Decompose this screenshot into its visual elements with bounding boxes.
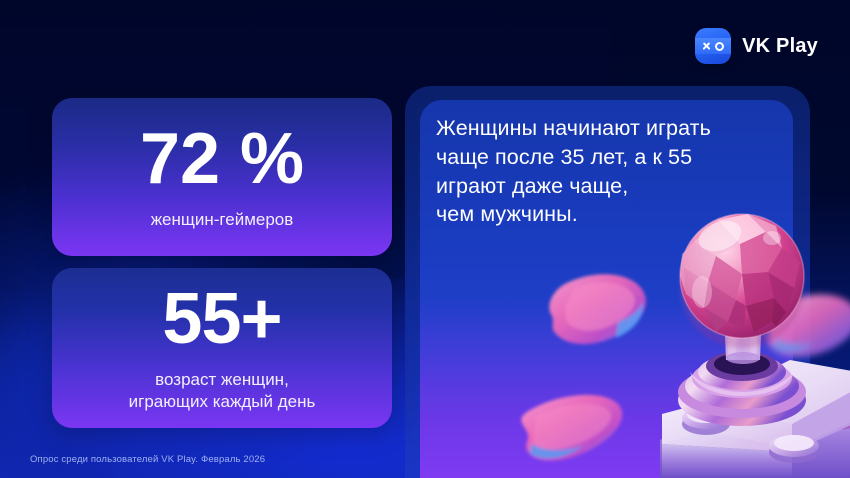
stat-label-line-1: возраст женщин, bbox=[155, 370, 289, 389]
cross-icon bbox=[702, 42, 711, 51]
stat-label: возраст женщин, играющих каждый день bbox=[129, 369, 316, 413]
source-footnote: Опрос среди пользователей VK Play. Февра… bbox=[30, 454, 265, 465]
headline-line-4: чем мужчины. bbox=[436, 200, 786, 229]
vk-play-logo[interactable]: VK Play bbox=[695, 28, 818, 64]
headline-line-1: Женщины начинают играть bbox=[436, 114, 786, 143]
logo-face-band bbox=[695, 38, 731, 54]
stat-number: 72 % bbox=[140, 123, 304, 195]
headline-text: Женщины начинают играть чаще после 35 ле… bbox=[436, 114, 786, 229]
stat-card-age-daily-players: 55+ возраст женщин, играющих каждый день bbox=[52, 268, 392, 428]
headline-line-3: играют даже чаще, bbox=[436, 172, 786, 201]
infographic-canvas: VK Play 72 % женщин-геймеров 55+ возраст… bbox=[0, 0, 850, 478]
vk-play-squircle-icon bbox=[695, 28, 731, 64]
headline-line-2: чаще после 35 лет, а к 55 bbox=[436, 143, 786, 172]
stat-label: женщин-геймеров bbox=[151, 209, 294, 231]
circle-icon bbox=[715, 42, 724, 51]
stat-number: 55+ bbox=[162, 283, 281, 355]
right-panel-purple-wash bbox=[420, 300, 793, 478]
stat-label-line-1: женщин-геймеров bbox=[151, 210, 294, 229]
stat-card-percent-women-gamers: 72 % женщин-геймеров bbox=[52, 98, 392, 256]
stat-label-line-2: играющих каждый день bbox=[129, 391, 316, 413]
logo-wordmark: VK Play bbox=[742, 35, 818, 58]
